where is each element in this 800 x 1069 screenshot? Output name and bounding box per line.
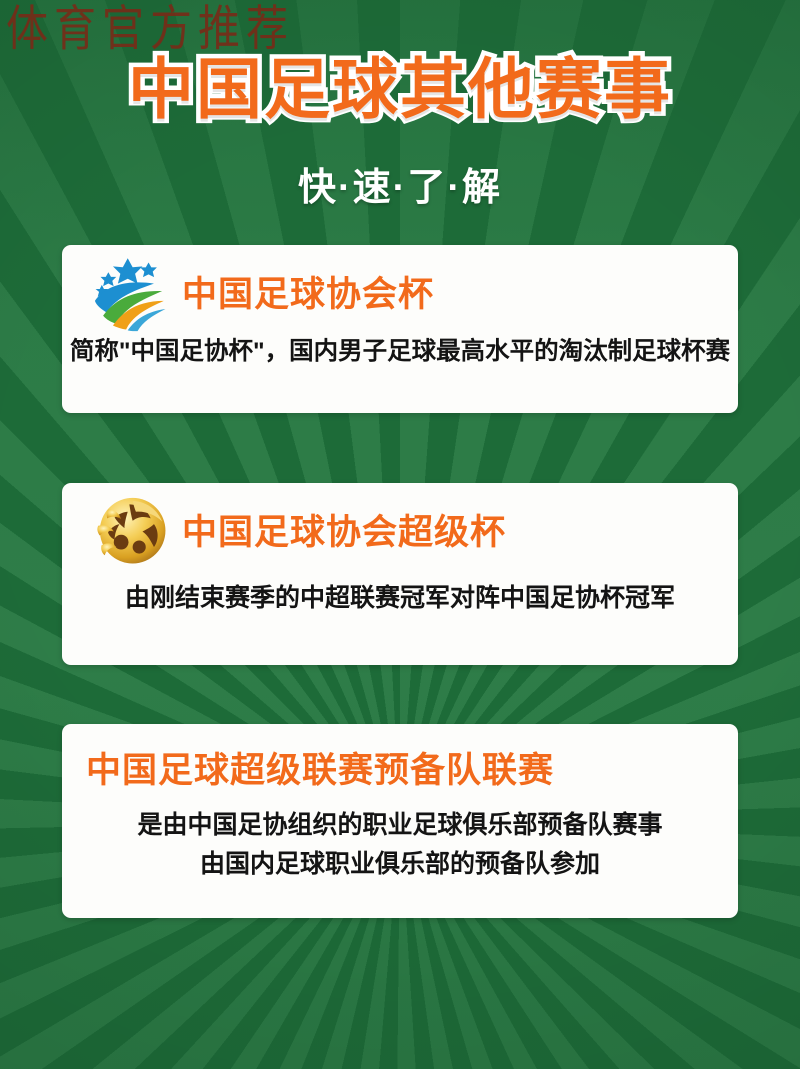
card-title: 中国足球超级联赛预备队联赛 bbox=[86, 742, 554, 793]
card-header: 中国足球超级联赛预备队联赛 bbox=[62, 724, 738, 796]
card-description-line-1: 是由中国足协组织的职业足球俱乐部预备队赛事 bbox=[62, 806, 738, 845]
card-description: 简称"中国足协杯"，国内男子足球最高水平的淘汰制足球杯赛 bbox=[62, 333, 738, 371]
card-title: 中国足球协会杯 bbox=[182, 266, 434, 317]
page-title: 中国足球其他赛事 bbox=[128, 56, 672, 122]
cfa-super-cup-flame-logo-icon bbox=[90, 488, 172, 570]
card-description: 是由中国足协组织的职业足球俱乐部预备队赛事 由国内足球职业俱乐部的预备队参加 bbox=[62, 806, 738, 884]
card-csl-reserve-league[interactable]: 中国足球超级联赛预备队联赛 是由中国足协组织的职业足球俱乐部预备队赛事 由国内足… bbox=[62, 724, 738, 918]
card-description-line-2: 由国内足球职业俱乐部的预备队参加 bbox=[62, 845, 738, 884]
cfa-cup-logo-icon bbox=[90, 250, 172, 332]
poster-canvas: 体育官方推荐 中国足球其他赛事 快·速·了·解 bbox=[0, 0, 800, 1069]
card-cfa-super-cup[interactable]: 中国足球协会超级杯 由刚结束赛季的中超联赛冠军对阵中国足协杯冠军 bbox=[62, 483, 738, 665]
card-cfa-cup[interactable]: 中国足球协会杯 简称"中国足协杯"，国内男子足球最高水平的淘汰制足球杯赛 bbox=[62, 245, 738, 413]
page-subtitle: 快·速·了·解 bbox=[0, 156, 800, 211]
card-header: 中国足球协会杯 bbox=[62, 245, 738, 337]
competition-card-list: 中国足球协会杯 简称"中国足协杯"，国内男子足球最高水平的淘汰制足球杯赛 bbox=[0, 245, 800, 945]
watermark-text: 体育官方推荐 bbox=[6, 0, 294, 60]
card-description: 由刚结束赛季的中超联赛冠军对阵中国足协杯冠军 bbox=[62, 579, 738, 618]
card-header: 中国足球协会超级杯 bbox=[62, 483, 738, 575]
card-title: 中国足球协会超级杯 bbox=[182, 504, 506, 555]
